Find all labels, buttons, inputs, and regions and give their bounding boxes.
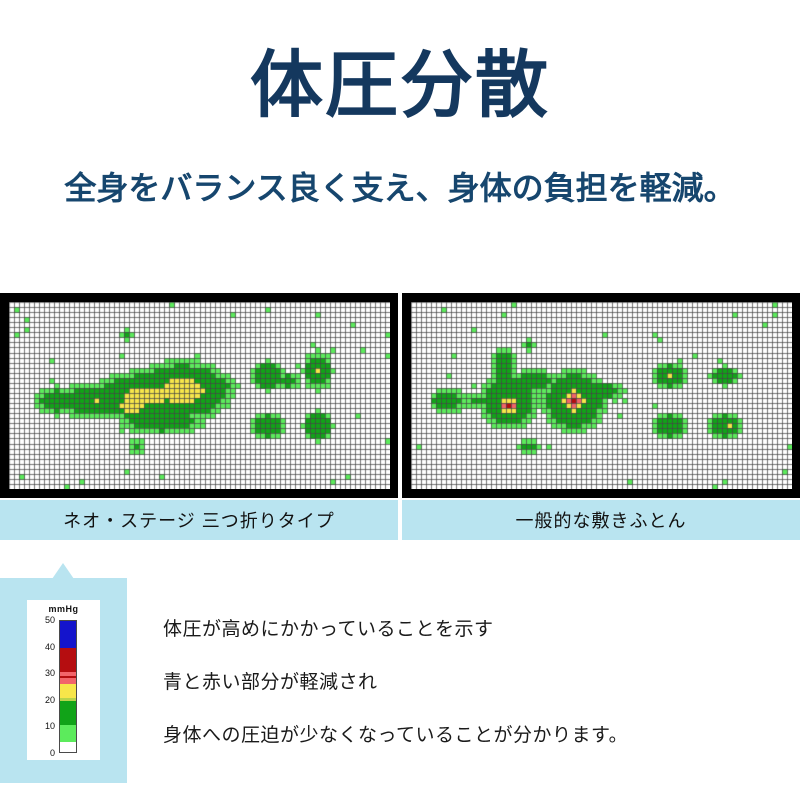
pressure-heatmap-ordinary-futon: [411, 302, 792, 489]
legend-band: [60, 621, 76, 648]
legend-tick: 40: [45, 642, 55, 652]
legend-band: [60, 742, 76, 753]
legend-band: [60, 725, 76, 742]
page-title: 体圧分散: [0, 48, 800, 125]
legend-card: mmHg 50403020100: [27, 600, 100, 760]
legend-callout: mmHg 50403020100: [0, 578, 127, 783]
note-line: 青と赤い部分が軽減され: [163, 667, 783, 694]
legend-tick: 20: [45, 695, 55, 705]
legend-tick: 10: [45, 721, 55, 731]
pressure-map-caption-left: ネオ・ステージ 三つ折りタイプ: [0, 500, 398, 540]
legend-tick: 0: [50, 748, 55, 758]
pressure-map-panel-ordinary-futon: 一般的な敷きふとん: [402, 293, 800, 540]
legend-band: [60, 648, 76, 672]
pressure-map-frame-left: [0, 293, 398, 498]
legend-unit-label: mmHg: [27, 604, 100, 614]
legend-tick: 30: [45, 668, 55, 678]
note-line: 体圧が高めにかかっていることを示す: [163, 614, 783, 641]
notes-list: 体圧が高めにかかっていることを示す 青と赤い部分が軽減され 身体への圧迫が少なく…: [163, 614, 783, 773]
pressure-map-panel-neo-stage: ネオ・ステージ 三つ折りタイプ: [0, 293, 398, 540]
legend-band: [60, 701, 76, 725]
legend-tick-labels: 50403020100: [27, 620, 57, 753]
page-subtitle: 全身をバランス良く支え、身体の負担を軽減。: [0, 163, 800, 209]
pressure-heatmap-neo-stage: [9, 302, 390, 489]
pressure-map-frame-right: [402, 293, 800, 498]
pressure-map-caption-right: 一般的な敷きふとん: [402, 500, 800, 540]
legend-tick: 50: [45, 615, 55, 625]
header: 体圧分散 全身をバランス良く支え、身体の負担を軽減。: [0, 0, 800, 290]
note-line: 身体への圧迫が少なくなっていることが分かります。: [163, 720, 783, 747]
pressure-map-comparison: ネオ・ステージ 三つ折りタイプ 一般的な敷きふとん: [0, 293, 800, 540]
legend-band: [60, 684, 76, 699]
legend-body: 50403020100: [27, 620, 100, 753]
legend-callout-arrow-icon: [52, 563, 74, 579]
legend-color-bar: [59, 620, 77, 753]
